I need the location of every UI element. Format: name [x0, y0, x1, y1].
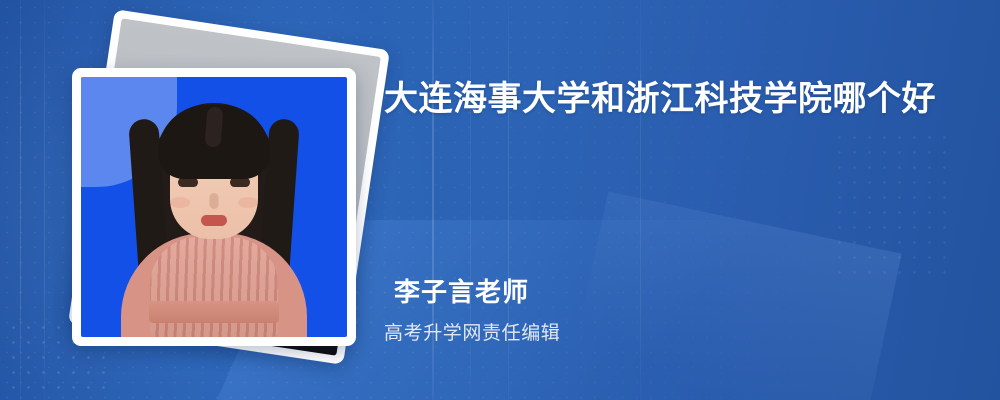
- author-role: 高考升学网责任编辑: [384, 318, 560, 345]
- author-name: 李子言老师: [394, 272, 529, 309]
- portrait-illustration: [114, 93, 314, 337]
- banner-text-block: 大连海事大学和浙江科技学院哪个好 李子言老师 高考升学网责任编辑: [384, 0, 984, 400]
- portrait-hair-part: [205, 106, 224, 147]
- portrait-blush-right: [238, 197, 258, 208]
- photo-card-front: [72, 68, 356, 346]
- portrait-blush-left: [170, 197, 190, 208]
- portrait-dress-band: [149, 301, 279, 323]
- article-headline: 大连海事大学和浙江科技学院哪个好: [384, 72, 954, 126]
- portrait-mouth: [201, 215, 227, 226]
- portrait-nose: [210, 193, 219, 209]
- article-author-banner: 大连海事大学和浙江科技学院哪个好 李子言老师 高考升学网责任编辑: [0, 0, 1000, 400]
- photo-card-stack: [46, 26, 358, 356]
- author-photo: [81, 77, 347, 337]
